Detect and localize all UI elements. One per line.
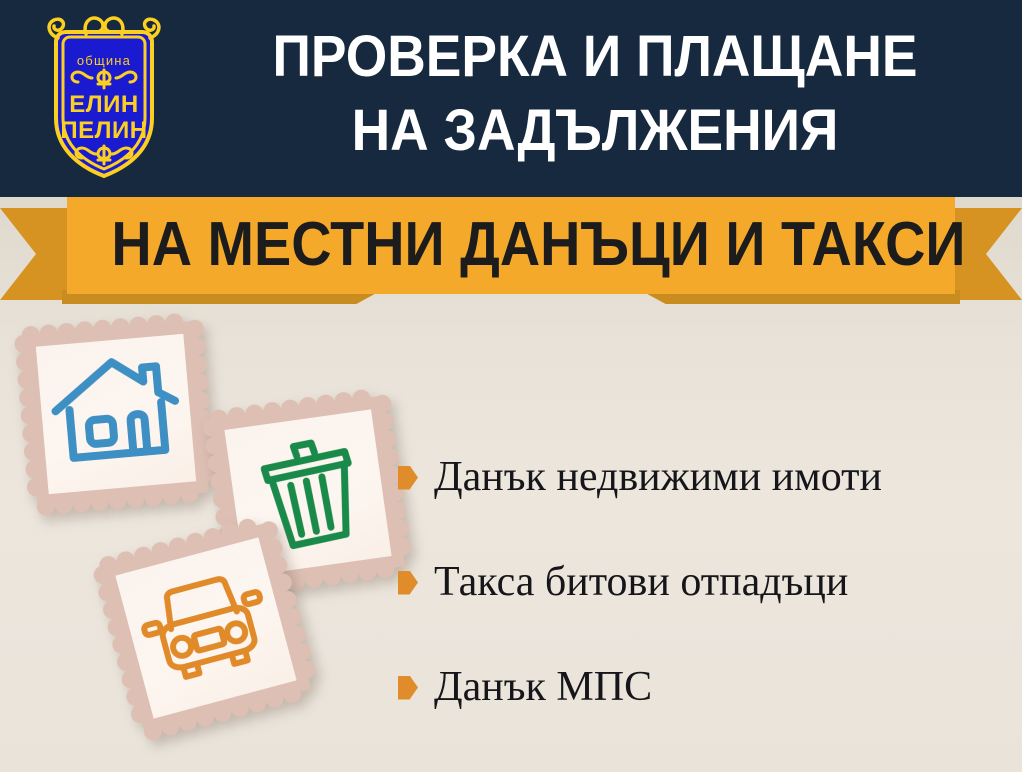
subtitle-ribbon: НА МЕСТНИ ДАНЪЦИ И ТАКСИ <box>0 196 1022 306</box>
arrow-bullet-icon <box>398 571 418 595</box>
ribbon-label: НА МЕСТНИ ДАНЪЦИ И ТАКСИ <box>111 196 910 294</box>
arrow-bullet-icon <box>398 676 418 700</box>
list-item-label: Данък МПС <box>434 664 652 710</box>
svg-text:ПЕЛИН: ПЕЛИН <box>60 117 147 144</box>
tax-type-list: Данък недвижими имоти Такса битови отпад… <box>398 425 1018 740</box>
list-item-label: Такса битови отпадъци <box>434 559 848 605</box>
arrow-bullet-icon <box>398 466 418 490</box>
list-item-label: Данък недвижими имоти <box>434 454 882 500</box>
coat-of-arms-logo: община ЕЛИН ПЕЛИН <box>38 8 170 188</box>
coat-of-arms-icon: община ЕЛИН ПЕЛИН <box>38 8 170 188</box>
list-item[interactable]: Данък недвижими имоти <box>398 425 1018 530</box>
svg-text:община: община <box>77 53 131 68</box>
svg-text:ЕЛИН: ЕЛИН <box>69 91 138 118</box>
page-title: ПРОВЕРКА И ПЛАЩАНЕ НА ЗАДЪЛЖЕНИЯ <box>209 20 982 168</box>
list-item[interactable]: Такса битови отпадъци <box>398 530 1018 635</box>
house-icon <box>36 334 196 494</box>
list-item[interactable]: Данък МПС <box>398 635 1018 740</box>
poster-canvas: ПРОВЕРКА И ПЛАЩАНЕ НА ЗАДЪЛЖЕНИЯ община … <box>0 0 1022 772</box>
stamp-card-property <box>10 308 222 520</box>
